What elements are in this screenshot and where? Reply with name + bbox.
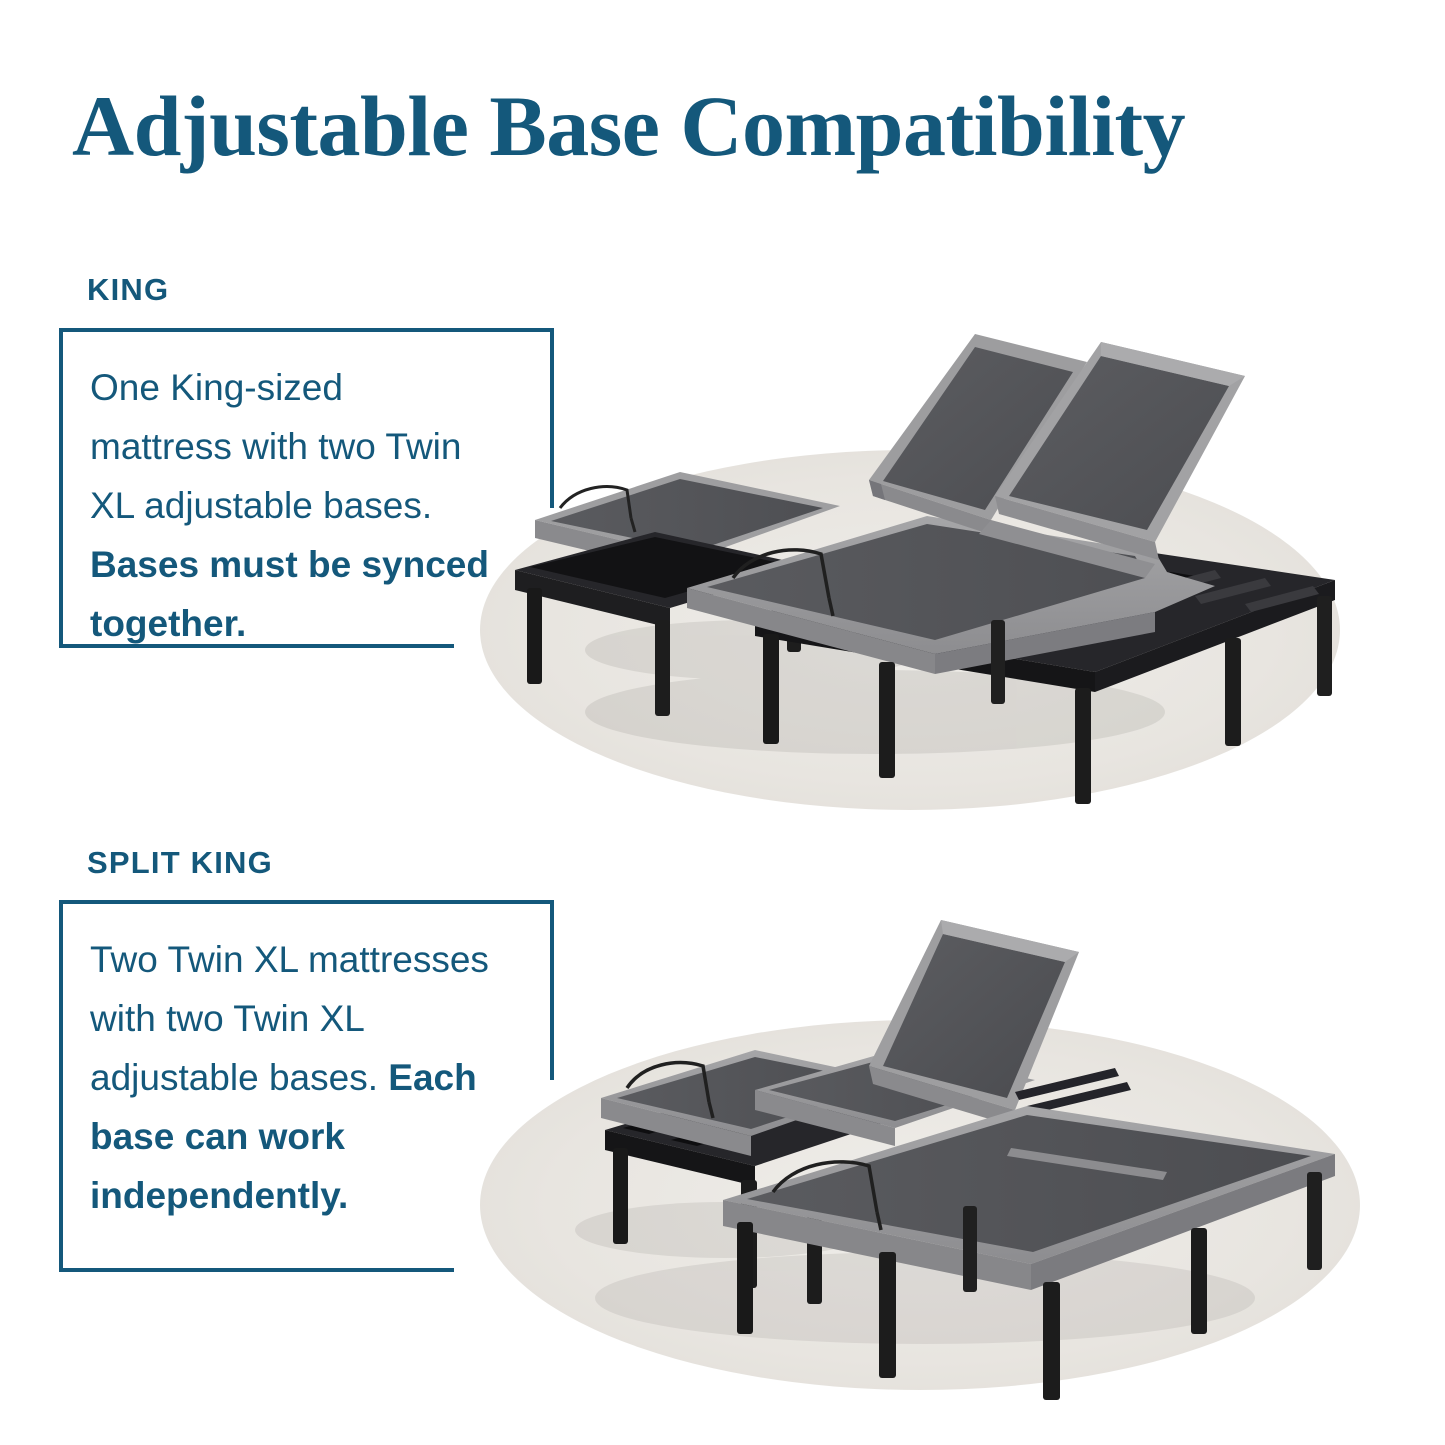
leg xyxy=(737,1222,753,1334)
leg xyxy=(1191,1228,1207,1334)
king-description-regular: One King-sized mattress with two Twin XL… xyxy=(90,367,461,526)
leg xyxy=(1317,596,1332,696)
leg xyxy=(655,620,670,716)
split-box-bottom-border xyxy=(59,1268,454,1272)
king-description: One King-sized mattress with two Twin XL… xyxy=(90,358,490,653)
king-box-left-border xyxy=(59,328,63,648)
king-adjustable-base-illustration xyxy=(455,320,1415,820)
leg xyxy=(963,1206,977,1292)
leg xyxy=(763,634,779,744)
page-title: Adjustable Base Compatibility xyxy=(72,78,1372,174)
split-box-left-border xyxy=(59,900,63,1272)
section-label-split-king: SPLIT KING xyxy=(87,845,273,881)
split-king-adjustable-base-illustration xyxy=(455,900,1415,1400)
leg xyxy=(1043,1282,1060,1400)
leg xyxy=(613,1148,628,1244)
leg xyxy=(879,1252,896,1378)
section-label-king: KING xyxy=(87,272,169,308)
leg xyxy=(991,620,1005,704)
king-description-bold: Bases must be synced together. xyxy=(90,544,489,644)
leg xyxy=(527,588,542,684)
leg xyxy=(879,662,895,778)
leg xyxy=(1307,1172,1322,1270)
infographic-page: Adjustable Base Compatibility KING One K… xyxy=(0,0,1445,1445)
leg xyxy=(1075,688,1091,804)
split-king-description: Two Twin XL mattresses with two Twin XL … xyxy=(90,930,510,1225)
leg xyxy=(1225,638,1241,746)
